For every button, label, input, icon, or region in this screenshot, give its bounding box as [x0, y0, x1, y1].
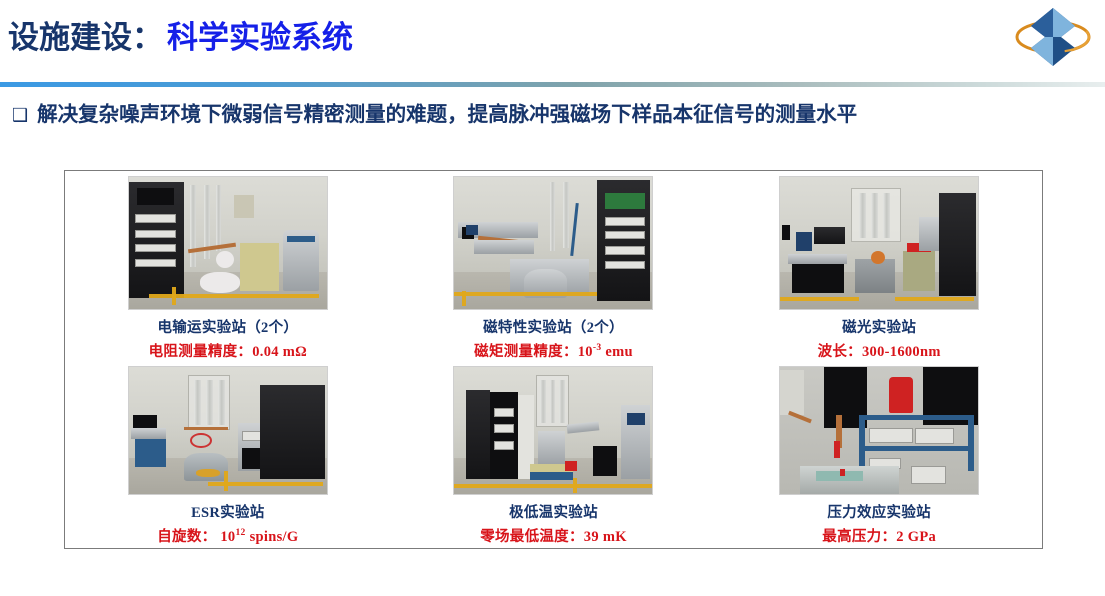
page-title-main: 设施建设： [8, 20, 163, 55]
station-name: 磁光实验站 [842, 316, 916, 337]
station-name: 压力效应实验站 [827, 501, 931, 522]
page-title: 设施建设：科学实验系统 [8, 16, 353, 60]
station-spec: 磁矩测量精度：10-3 emu [474, 340, 633, 361]
station-spec-value-base: 10 [216, 529, 235, 545]
bullet-text: 解决复杂噪声环境下微弱信号精密测量的难题，提高脉冲强磁场下样品本征信号的测量水平 [37, 100, 857, 130]
stations-grid: 电输运实验站（2个） 电阻测量精度：0.04 mΩ [65, 171, 1042, 548]
photo-scene [780, 177, 978, 309]
station-spec-value: 2 GPa [896, 529, 936, 545]
photo-magnetic-property-station [453, 176, 653, 310]
photo-magneto-optical-station [779, 176, 979, 310]
station-spec: 电阻测量精度：0.04 mΩ [149, 340, 307, 361]
photo-scene [454, 177, 652, 309]
station-spec-value: 300-1600nm [862, 344, 941, 360]
photo-scene [454, 367, 652, 494]
station-cell-esr: ESR实验站 自旋数： 1012 spins/G [65, 361, 391, 548]
station-name: 电输运实验站（2个） [157, 316, 298, 337]
station-spec-value: 0.04 mΩ [252, 344, 307, 360]
station-spec-value-base: 10 [578, 344, 593, 360]
photo-scene [780, 367, 978, 494]
station-cell-ultra-low-temperature: 极低温实验站 零场最低温度：39 mK [391, 361, 717, 548]
station-cell-magnetic-property: 磁特性实验站（2个） 磁矩测量精度：10-3 emu [391, 171, 717, 361]
header-divider-rule [0, 82, 1105, 87]
station-name: 极低温实验站 [509, 501, 598, 522]
photo-pressure-effect-station [779, 366, 979, 495]
station-spec-value: 39 mK [584, 529, 627, 545]
photo-scene [129, 177, 327, 309]
slide-header: 设施建设：科学实验系统 [0, 0, 1105, 84]
station-spec: 自旋数： 1012 spins/G [157, 525, 298, 546]
station-spec-value-unit: spins/G [246, 529, 299, 545]
station-name: 磁特性实验站（2个） [483, 316, 624, 337]
station-spec-value-exponent: 12 [235, 527, 245, 538]
photo-scene [129, 367, 327, 494]
institute-logo [1013, 2, 1093, 72]
page-title-accent: 科学实验系统 [167, 20, 353, 55]
station-cell-electrical-transport: 电输运实验站（2个） 电阻测量精度：0.04 mΩ [65, 171, 391, 361]
logo-icon [1013, 2, 1093, 72]
station-spec: 零场最低温度：39 mK [480, 525, 627, 546]
bullet-square-icon: ❑ [12, 100, 28, 130]
station-spec-label: 磁矩测量精度： [474, 344, 578, 360]
station-name: ESR实验站 [191, 501, 265, 522]
photo-electrical-transport-station [128, 176, 328, 310]
bullet-row: ❑ 解决复杂噪声环境下微弱信号精密测量的难题，提高脉冲强磁场下样品本征信号的测量… [12, 100, 857, 130]
station-cell-magneto-optical: 磁光实验站 波长：300-1600nm [716, 171, 1042, 361]
station-spec-label: 最高压力： [822, 529, 896, 545]
station-spec: 最高压力：2 GPa [822, 525, 936, 546]
photo-ultra-low-temperature-station [453, 366, 653, 495]
station-spec-label: 波长： [818, 344, 862, 360]
station-spec-label: 零场最低温度： [480, 529, 584, 545]
station-spec-label: 自旋数： [157, 529, 216, 545]
stations-frame: 电输运实验站（2个） 电阻测量精度：0.04 mΩ [64, 170, 1043, 549]
photo-esr-station [128, 366, 328, 495]
station-spec-value-unit: emu [601, 344, 632, 360]
station-spec-label: 电阻测量精度： [149, 344, 253, 360]
station-cell-pressure-effect: 压力效应实验站 最高压力：2 GPa [716, 361, 1042, 548]
station-spec: 波长：300-1600nm [818, 340, 941, 361]
